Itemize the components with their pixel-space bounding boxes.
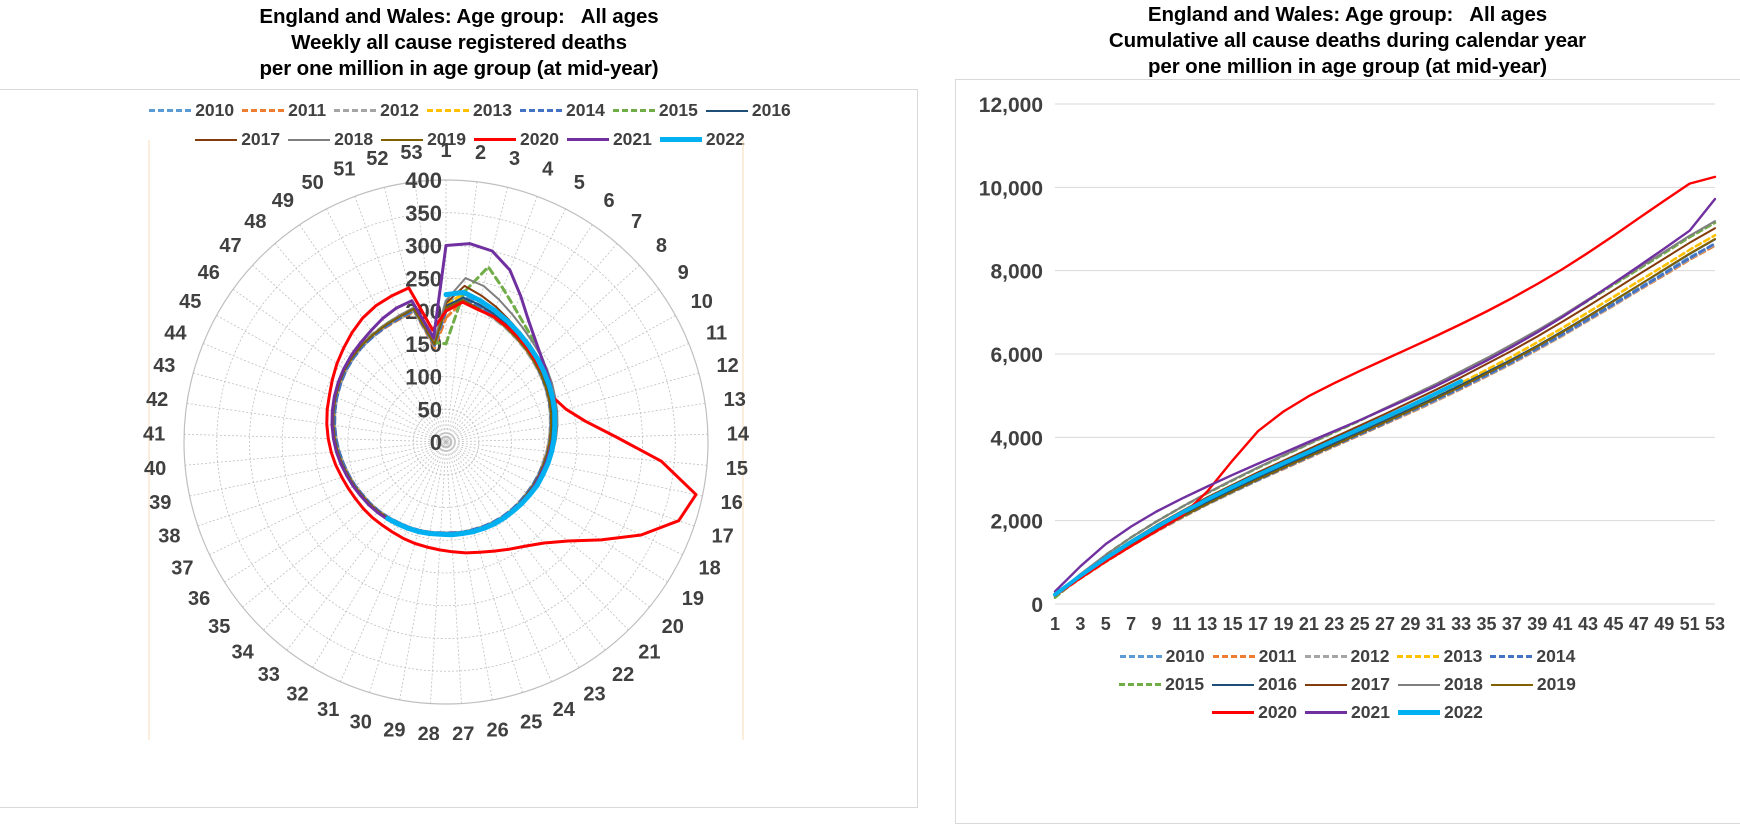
legend-label: 2010	[195, 100, 234, 121]
x-tick-13: 13	[1197, 614, 1217, 634]
right-chart-legend: 2010201120122013201420152016201720182019…	[1015, 646, 1680, 730]
y-tick-2,000: 2,000	[990, 511, 1043, 534]
x-tick-17: 17	[1248, 614, 1268, 634]
legend-label: 2017	[1351, 674, 1390, 695]
week-label-20: 20	[662, 616, 684, 638]
legend-label: 2022	[1444, 702, 1483, 723]
legend-swatch-icon	[1305, 711, 1347, 714]
legend-item-2011[interactable]: 2011	[242, 100, 326, 121]
weekly-deaths-polar-panel: England and Wales: Age group: All ages W…	[0, 0, 920, 808]
week-label-43: 43	[153, 355, 175, 377]
week-label-37: 37	[171, 558, 193, 580]
legend-swatch-icon	[1398, 684, 1440, 686]
legend-item-2011[interactable]: 2011	[1213, 646, 1297, 667]
x-tick-29: 29	[1400, 614, 1420, 634]
x-tick-3: 3	[1075, 614, 1085, 634]
legend-label: 2020	[1258, 702, 1297, 723]
week-label-29: 29	[383, 719, 405, 740]
radial-tick-0: 0	[430, 430, 442, 455]
week-label-17: 17	[711, 526, 733, 548]
week-label-42: 42	[146, 389, 168, 411]
radial-tick-350: 350	[405, 201, 442, 226]
week-label-27: 27	[452, 723, 474, 740]
legend-swatch-icon	[242, 109, 284, 112]
legend-label: 2011	[1259, 646, 1297, 667]
legend-swatch-icon	[706, 110, 748, 112]
legend-item-2012[interactable]: 2012	[334, 100, 419, 121]
cumulative-series-group	[1055, 177, 1715, 598]
legend-swatch-icon	[1119, 683, 1161, 686]
week-label-52: 52	[366, 148, 388, 170]
legend-row: 202020212022	[1015, 702, 1680, 723]
y-tick-8,000: 8,000	[990, 261, 1043, 284]
week-label-3: 3	[509, 148, 520, 170]
cumulative-chart-svg: 02,0004,0006,0008,00010,00012,0001357911…	[955, 86, 1740, 646]
legend-row: 20102011201220132014	[1015, 646, 1680, 667]
y-tick-12,000: 12,000	[979, 94, 1043, 117]
x-tick-53: 53	[1705, 614, 1725, 634]
week-label-47: 47	[219, 235, 241, 257]
legend-item-2013[interactable]: 2013	[1397, 646, 1482, 667]
legend-swatch-icon	[1305, 655, 1347, 658]
legend-item-2016[interactable]: 2016	[706, 100, 791, 121]
radial-tick-250: 250	[405, 266, 442, 291]
week-label-13: 13	[724, 389, 746, 411]
week-label-25: 25	[520, 711, 542, 733]
legend-label: 2018	[1444, 674, 1483, 695]
week-label-11: 11	[706, 322, 727, 344]
week-label-31: 31	[317, 699, 339, 721]
legend-swatch-icon	[149, 109, 191, 112]
x-tick-27: 27	[1375, 614, 1395, 634]
legend-item-2017[interactable]: 2017	[1305, 674, 1390, 695]
week-label-9: 9	[678, 262, 689, 284]
week-label-49: 49	[272, 190, 294, 212]
legend-label: 2019	[1537, 674, 1576, 695]
cumulative-series-2020	[1055, 177, 1715, 596]
right-title-line-3: per one million in age group (at mid-yea…	[955, 54, 1740, 80]
screenshot-root: England and Wales: Age group: All ages W…	[0, 0, 1740, 824]
week-label-2: 2	[475, 142, 486, 164]
cumulative-deaths-panel: England and Wales: Age group: All ages C…	[955, 0, 1740, 824]
week-label-15: 15	[726, 458, 748, 480]
legend-item-2020[interactable]: 2020	[1212, 702, 1297, 723]
legend-swatch-icon	[1490, 655, 1532, 658]
legend-label: 2015	[1165, 674, 1204, 695]
x-tick-15: 15	[1223, 614, 1243, 634]
legend-label: 2014	[1536, 646, 1575, 667]
x-tick-5: 5	[1101, 614, 1111, 634]
week-label-8: 8	[656, 235, 667, 257]
week-label-38: 38	[158, 526, 180, 548]
legend-item-2016[interactable]: 2016	[1212, 674, 1297, 695]
legend-label: 2016	[752, 100, 791, 121]
x-tick-11: 11	[1172, 614, 1191, 634]
polar-week-labels: 1234567891011121314151617181920212223242…	[143, 140, 750, 740]
x-tick-19: 19	[1273, 614, 1293, 634]
legend-swatch-icon	[1120, 655, 1162, 658]
legend-item-2012[interactable]: 2012	[1305, 646, 1390, 667]
week-label-5: 5	[574, 172, 585, 194]
legend-label: 2014	[566, 100, 605, 121]
x-tick-49: 49	[1654, 614, 1674, 634]
legend-swatch-icon	[613, 109, 655, 112]
left-title-line-3: per one million in age group (at mid-yea…	[0, 56, 918, 82]
left-title-line-1: England and Wales: Age group: All ages	[0, 4, 918, 30]
polar-series-group	[327, 244, 696, 553]
legend-item-2010[interactable]: 2010	[1120, 646, 1205, 667]
week-label-40: 40	[144, 458, 166, 480]
legend-swatch-icon	[1397, 655, 1439, 658]
week-label-19: 19	[682, 588, 704, 610]
x-tick-7: 7	[1126, 614, 1136, 634]
legend-item-2019[interactable]: 2019	[1491, 674, 1576, 695]
x-tick-47: 47	[1629, 614, 1649, 634]
week-label-34: 34	[231, 642, 254, 664]
week-label-48: 48	[244, 211, 266, 233]
legend-label: 2015	[659, 100, 698, 121]
week-label-36: 36	[188, 588, 210, 610]
week-label-22: 22	[612, 664, 634, 686]
y-tick-10,000: 10,000	[979, 177, 1043, 200]
x-tick-45: 45	[1603, 614, 1623, 634]
legend-swatch-icon	[1491, 684, 1533, 686]
legend-swatch-icon	[520, 109, 562, 112]
legend-item-2014[interactable]: 2014	[520, 100, 605, 121]
week-label-4: 4	[542, 158, 554, 180]
week-label-23: 23	[583, 683, 605, 705]
legend-swatch-icon	[1213, 655, 1255, 658]
week-label-14: 14	[727, 423, 750, 445]
cumulative-plot-area: 02,0004,0006,0008,00010,00012,0001357911…	[955, 86, 1740, 646]
x-tick-39: 39	[1527, 614, 1547, 634]
x-tick-51: 51	[1680, 614, 1700, 634]
week-label-21: 21	[638, 642, 660, 664]
cumulative-x-tick-labels: 1357911131517192123252729313335373941434…	[1050, 614, 1725, 634]
x-tick-43: 43	[1578, 614, 1598, 634]
week-label-1: 1	[440, 140, 451, 162]
radial-tick-50: 50	[418, 397, 442, 422]
week-label-28: 28	[418, 723, 440, 740]
left-chart-title: England and Wales: Age group: All ages W…	[0, 4, 918, 82]
week-label-35: 35	[208, 616, 230, 638]
radial-tick-400: 400	[405, 168, 442, 193]
legend-swatch-icon	[1305, 684, 1347, 686]
week-label-50: 50	[302, 172, 324, 194]
legend-swatch-icon	[1212, 711, 1254, 714]
x-tick-41: 41	[1553, 614, 1573, 634]
week-label-39: 39	[149, 492, 171, 514]
x-tick-21: 21	[1299, 614, 1319, 634]
week-label-18: 18	[698, 558, 720, 580]
x-tick-9: 9	[1152, 614, 1162, 634]
legend-item-2022[interactable]: 2022	[1398, 702, 1483, 723]
legend-label: 2010	[1166, 646, 1205, 667]
week-label-6: 6	[604, 190, 615, 212]
week-label-26: 26	[487, 719, 509, 740]
x-tick-37: 37	[1502, 614, 1522, 634]
week-label-41: 41	[143, 423, 165, 445]
right-chart-title: England and Wales: Age group: All ages C…	[955, 2, 1740, 80]
legend-item-2015[interactable]: 2015	[613, 100, 698, 121]
week-label-24: 24	[553, 699, 576, 721]
x-tick-31: 31	[1426, 614, 1446, 634]
polar-chart-svg: 0501001502002503003504001234567891011121…	[0, 140, 918, 740]
legend-label: 2012	[1351, 646, 1390, 667]
legend-swatch-icon	[1212, 684, 1254, 686]
week-label-53: 53	[400, 142, 422, 164]
legend-item-2015[interactable]: 2015	[1119, 674, 1204, 695]
legend-label: 2016	[1258, 674, 1297, 695]
legend-item-2021[interactable]: 2021	[1305, 702, 1390, 723]
legend-item-2010[interactable]: 2010	[149, 100, 234, 121]
week-label-16: 16	[721, 492, 743, 514]
right-title-line-1: England and Wales: Age group: All ages	[955, 2, 1740, 28]
cumulative-y-tick-labels: 02,0004,0006,0008,00010,00012,000	[979, 94, 1043, 617]
week-label-12: 12	[717, 355, 739, 377]
right-title-line-2: Cumulative all cause deaths during calen…	[955, 28, 1740, 54]
legend-swatch-icon	[427, 109, 469, 112]
x-tick-33: 33	[1451, 614, 1471, 634]
y-tick-4,000: 4,000	[990, 427, 1043, 450]
week-label-51: 51	[333, 158, 355, 180]
x-tick-35: 35	[1477, 614, 1497, 634]
left-title-line-2: Weekly all cause registered deaths	[0, 30, 918, 56]
week-label-33: 33	[258, 664, 280, 686]
week-label-7: 7	[631, 211, 642, 233]
week-label-32: 32	[286, 683, 308, 705]
week-label-10: 10	[691, 291, 713, 313]
legend-label: 2012	[380, 100, 419, 121]
radial-tick-300: 300	[405, 234, 442, 259]
legend-item-2013[interactable]: 2013	[427, 100, 512, 121]
legend-swatch-icon	[334, 109, 376, 112]
week-label-44: 44	[164, 322, 187, 344]
x-tick-25: 25	[1350, 614, 1370, 634]
week-label-46: 46	[198, 262, 220, 284]
legend-row: 20152016201720182019	[1015, 674, 1680, 695]
legend-swatch-icon	[1398, 710, 1440, 715]
legend-label: 2021	[1351, 702, 1390, 723]
legend-row: 2010201120122013201420152016	[120, 100, 820, 121]
x-tick-23: 23	[1324, 614, 1344, 634]
week-label-30: 30	[350, 711, 372, 733]
week-label-45: 45	[179, 291, 201, 313]
legend-item-2018[interactable]: 2018	[1398, 674, 1483, 695]
polar-plot-area: 0501001502002503003504001234567891011121…	[0, 140, 918, 740]
y-tick-0: 0	[1031, 594, 1043, 617]
legend-label: 2013	[1443, 646, 1482, 667]
x-tick-1: 1	[1050, 614, 1060, 634]
legend-item-2014[interactable]: 2014	[1490, 646, 1575, 667]
radial-tick-100: 100	[405, 365, 442, 390]
legend-label: 2011	[288, 100, 326, 121]
y-tick-6,000: 6,000	[990, 344, 1043, 367]
legend-label: 2013	[473, 100, 512, 121]
